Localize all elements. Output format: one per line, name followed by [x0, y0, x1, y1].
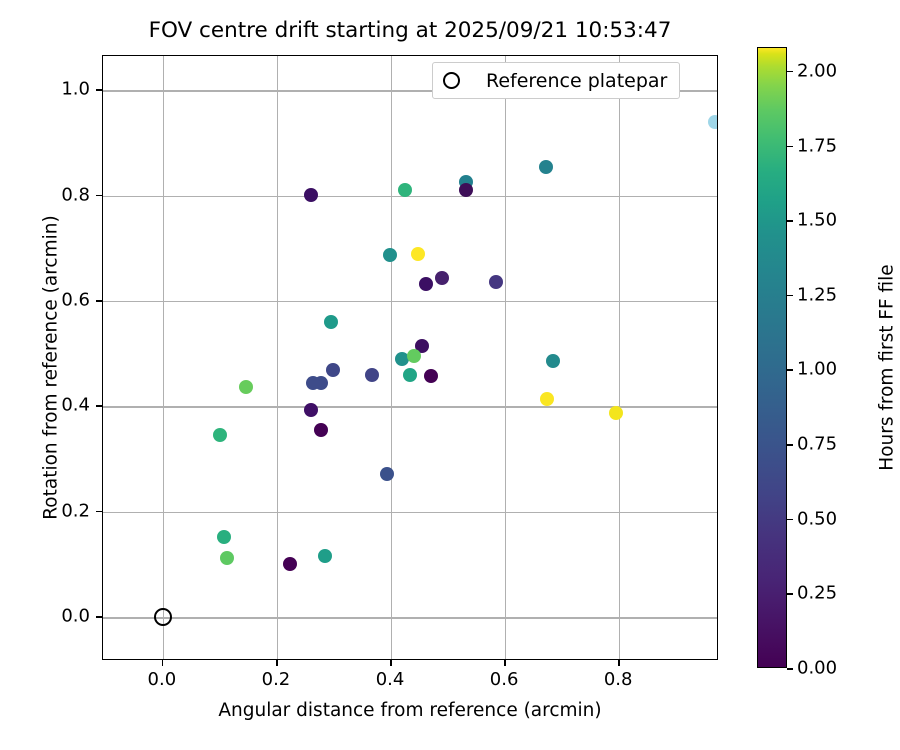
colorbar-tick: [787, 369, 793, 371]
scatter-point: [304, 403, 318, 417]
legend-entry-label: Reference platepar: [486, 70, 667, 92]
x-axis-label: Angular distance from reference (arcmin): [102, 700, 718, 721]
reference-platepar-point: [154, 608, 172, 626]
colorbar-tick: [787, 295, 793, 297]
colorbar-tick-label: 0.50: [797, 508, 837, 529]
scatter-point: [324, 315, 338, 329]
x-axis-tick-label: 0.2: [262, 669, 291, 690]
colorbar-tick-label: 1.25: [797, 284, 837, 305]
scatter-point: [411, 247, 425, 261]
colorbar-tick-label: 0.75: [797, 434, 837, 455]
y-axis-tick: [96, 89, 102, 91]
colorbar-tick: [787, 71, 793, 73]
y-axis-tick-label: 0.4: [61, 395, 90, 416]
x-axis-tick: [390, 660, 392, 666]
x-gridline: [163, 56, 164, 659]
scatter-point: [403, 368, 417, 382]
scatter-point: [304, 188, 318, 202]
y-axis-tick: [96, 195, 102, 197]
scatter-point: [539, 160, 553, 174]
scatter-point: [239, 380, 253, 394]
colorbar-tick: [787, 146, 793, 148]
scatter-point: [435, 271, 449, 285]
x-gridline: [505, 56, 506, 659]
y-gridline: [103, 617, 717, 618]
y-gridline: [103, 301, 717, 302]
scatter-point: [540, 392, 554, 406]
scatter-point: [318, 549, 332, 563]
colorbar-tick: [787, 593, 793, 595]
x-gridline: [619, 56, 620, 659]
colorbar-tick-label: 0.25: [797, 583, 837, 604]
colorbar-tick: [787, 668, 793, 670]
scatter-point: [314, 423, 328, 437]
x-axis-tick-label: 0.8: [604, 669, 633, 690]
colorbar-tick-label: 1.75: [797, 135, 837, 156]
scatter-point: [546, 354, 560, 368]
y-axis-tick-label: 0.2: [61, 500, 90, 521]
y-axis-tick-label: 0.8: [61, 184, 90, 205]
scatter-point: [213, 428, 227, 442]
scatter-point: [459, 183, 473, 197]
reference-platepar-marker-icon: [443, 72, 460, 89]
y-axis-tick: [96, 405, 102, 407]
y-gridline: [103, 196, 717, 197]
colorbar-tick-label: 1.50: [797, 210, 837, 231]
x-axis-tick-label: 0.0: [148, 669, 177, 690]
colorbar-tick-label: 1.00: [797, 359, 837, 380]
y-axis-label: Rotation from reference (arcmin): [41, 203, 62, 533]
x-gridline: [391, 56, 392, 659]
scatter-point: [419, 277, 433, 291]
y-axis-tick-label: 0.0: [61, 606, 90, 627]
x-axis-tick: [162, 660, 164, 666]
x-axis-tick: [504, 660, 506, 666]
scatter-point: [489, 275, 503, 289]
colorbar-tick: [787, 519, 793, 521]
y-axis-tick: [96, 511, 102, 513]
scatter-point: [424, 369, 438, 383]
scatter-point: [609, 406, 623, 420]
scatter-point: [220, 551, 234, 565]
x-axis-tick-label: 0.4: [376, 669, 405, 690]
page-title: FOV centre drift starting at 2025/09/21 …: [102, 18, 718, 43]
colorbar-tick-label: 2.00: [797, 60, 837, 81]
x-axis-tick-label: 0.6: [490, 669, 519, 690]
y-axis-tick-label: 1.0: [61, 79, 90, 100]
scatter-point: [283, 557, 297, 571]
figure-canvas: FOV centre drift starting at 2025/09/21 …: [0, 0, 900, 750]
y-axis-tick: [96, 616, 102, 618]
y-gridline: [103, 512, 717, 513]
scatter-point: [398, 183, 412, 197]
colorbar-tick: [787, 220, 793, 222]
scatter-point: [708, 115, 718, 129]
scatter-point: [407, 349, 421, 363]
plot-area: [102, 55, 718, 660]
y-gridline: [103, 406, 717, 407]
colorbar-label: Hours from first FF file: [877, 203, 898, 533]
colorbar-tick: [787, 444, 793, 446]
x-axis-tick: [618, 660, 620, 666]
scatter-point: [380, 467, 394, 481]
scatter-point: [217, 530, 231, 544]
x-gridline: [277, 56, 278, 659]
scatter-point: [383, 248, 397, 262]
colorbar-tick-label: 0.00: [797, 658, 837, 679]
scatter-point: [365, 368, 379, 382]
y-axis-tick: [96, 300, 102, 302]
colorbar-gradient: [757, 47, 787, 668]
y-axis-tick-label: 0.6: [61, 290, 90, 311]
scatter-point: [306, 376, 320, 390]
scatter-point: [326, 363, 340, 377]
legend: Reference platepar: [432, 62, 680, 99]
x-axis-tick: [276, 660, 278, 666]
